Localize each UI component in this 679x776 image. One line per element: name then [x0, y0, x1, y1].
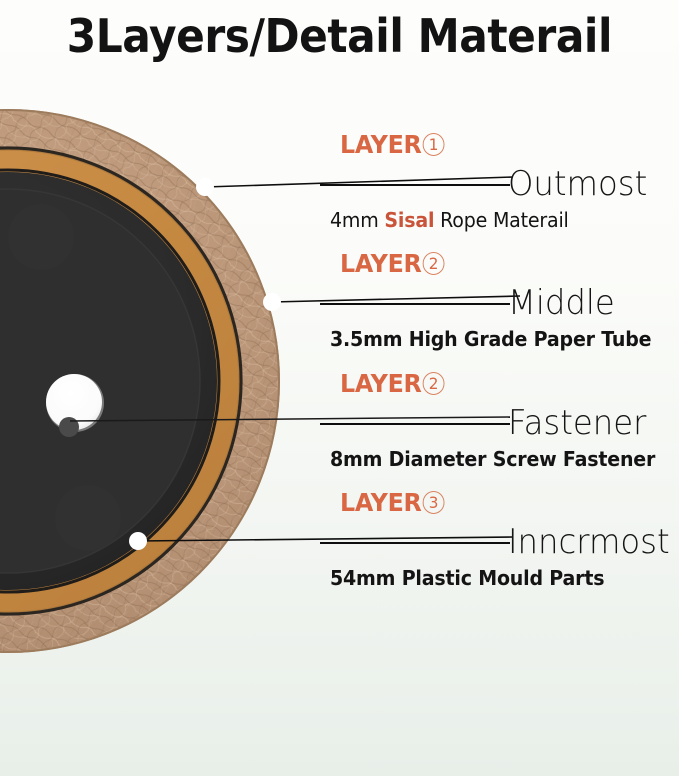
tube-core-separator	[0, 170, 219, 592]
layer-name-1: Outmost	[508, 162, 647, 206]
layer-name-3: Fastener	[508, 401, 646, 445]
layer-tag-4: LAYER3	[340, 490, 444, 515]
paper-tube-ring	[0, 150, 239, 612]
marker-dot-layer-2	[263, 293, 281, 311]
layer-number-badge-1: 1	[422, 133, 444, 156]
callout-rule-2	[320, 303, 510, 305]
callout-rule-4	[320, 542, 510, 544]
layer-name-4: Inncrmost	[508, 520, 670, 564]
layer-tag-1: LAYER1	[340, 132, 444, 157]
mould-recess-bottom	[55, 485, 121, 551]
layer-spec-1: 4mm Sisal Rope Materail	[330, 208, 662, 232]
rope-tube-separator	[0, 148, 241, 614]
layer-spec-3: 8mm Diameter Screw Fastener	[330, 447, 662, 471]
screw-fastener-dot	[59, 417, 79, 437]
callout-rule-1	[320, 184, 510, 186]
layer-tag-label-4: LAYER	[340, 490, 422, 515]
layer-spec-4: 54mm Plastic Mould Parts	[330, 566, 662, 590]
callout-rule-3	[320, 423, 510, 425]
product-cross-section-image	[0, 105, 288, 657]
layer-spec-2: 3.5mm High Grade Paper Tube	[330, 327, 662, 351]
layer-tag-label-1: LAYER	[340, 132, 422, 157]
layer-spec-1-pre: 4mm	[330, 208, 384, 232]
layer-number-badge-4: 3	[422, 491, 444, 514]
page-title-bar: 3Layers/Detail Materail	[0, 0, 679, 72]
layer-name-2: Middle	[508, 281, 615, 325]
layer-callout-outmost: LAYER1 Outmost 4mm Sisal Rope Materail	[330, 132, 679, 232]
layer-tag-label-3: LAYER	[340, 371, 422, 396]
layer-spec-1-post: Rope Materail	[434, 208, 568, 232]
layer-callout-middle: LAYER2 Middle 3.5mm High Grade Paper Tub…	[330, 251, 679, 351]
marker-dot-layer-1	[196, 178, 214, 196]
layer-callout-fastener: LAYER2 Fastener 8mm Diameter Screw Faste…	[330, 371, 679, 471]
layer-callout-innermost: LAYER3 Inncrmost 54mm Plastic Mould Part…	[330, 490, 679, 590]
mould-recess-top	[8, 204, 74, 270]
center-screw-hole	[46, 374, 104, 432]
layer-tag-2: LAYER2	[340, 251, 444, 276]
plastic-mould-core	[0, 172, 217, 590]
sisal-rope-outer-ring	[0, 109, 280, 653]
layer-tag-3: LAYER2	[340, 371, 444, 396]
layer-number-badge-2: 2	[422, 252, 444, 275]
layer-callout-list: LAYER1 Outmost 4mm Sisal Rope Materail L…	[330, 132, 679, 612]
page-title: 3Layers/Detail Materail	[67, 9, 612, 63]
layer-tag-label-2: LAYER	[340, 251, 422, 276]
marker-dot-layer-3	[129, 532, 147, 550]
layer-spec-1-highlight: Sisal	[384, 208, 434, 232]
layer-number-badge-3: 2	[422, 372, 444, 395]
